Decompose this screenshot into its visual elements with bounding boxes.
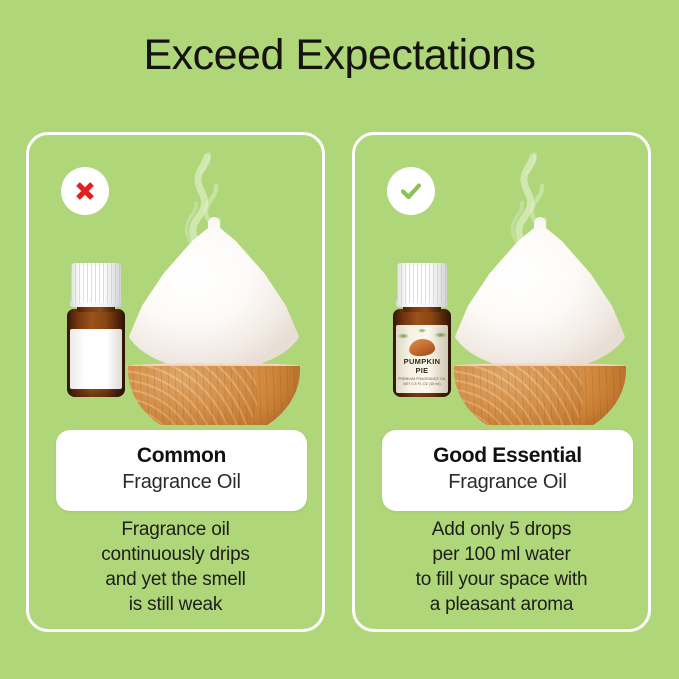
oil-bottle-good-essential: PUMPKIN PIE PREMIUM FRAGRANCE OIL NET 0.… [391,263,453,397]
diffuser-wood-base [128,366,300,425]
page-title: Exceed Expectations [0,32,679,79]
diffuser-cone-top [450,223,630,371]
comparison-card-good-essential: PUMPKIN PIE PREMIUM FRAGRANCE OIL NET 0.… [352,132,651,632]
bottle-label-blank [70,329,122,389]
product-type-label: Fragrance Oil [62,470,301,495]
product-scene-good-essential: PUMPKIN PIE PREMIUM FRAGRANCE OIL NET 0.… [355,135,648,425]
diffuser-device [124,223,304,399]
bottle-cap [71,263,121,303]
product-brand-label: Good Essential [388,443,627,468]
card-description-good-essential: Add only 5 drops per 100 ml water to fil… [369,517,634,617]
comparison-card-common: Common Fragrance Oil Fragrance oil conti… [26,132,325,632]
diffuser-wood-base [454,366,626,425]
product-scene-common [29,135,322,425]
product-name-pill-common: Common Fragrance Oil [56,430,307,511]
product-name-pill-good-essential: Good Essential Fragrance Oil [382,430,633,511]
oil-bottle-common [65,263,127,397]
bottle-amber-glass [67,309,125,397]
label-scent-name: PUMPKIN PIE [396,358,448,375]
diffuser-device [450,223,630,399]
bottle-label-pumpkin-pie: PUMPKIN PIE PREMIUM FRAGRANCE OIL NET 0.… [396,325,448,393]
product-type-label: Fragrance Oil [388,470,627,495]
product-brand-label: Common [62,443,301,468]
bottle-cap [397,263,447,303]
card-description-common: Fragrance oil continuously drips and yet… [43,517,308,617]
label-fine-print: PREMIUM FRAGRANCE OIL NET 0.5 FL OZ (15 … [396,377,448,387]
diffuser-cone-top [124,223,304,371]
bottle-amber-glass: PUMPKIN PIE PREMIUM FRAGRANCE OIL NET 0.… [393,309,451,397]
